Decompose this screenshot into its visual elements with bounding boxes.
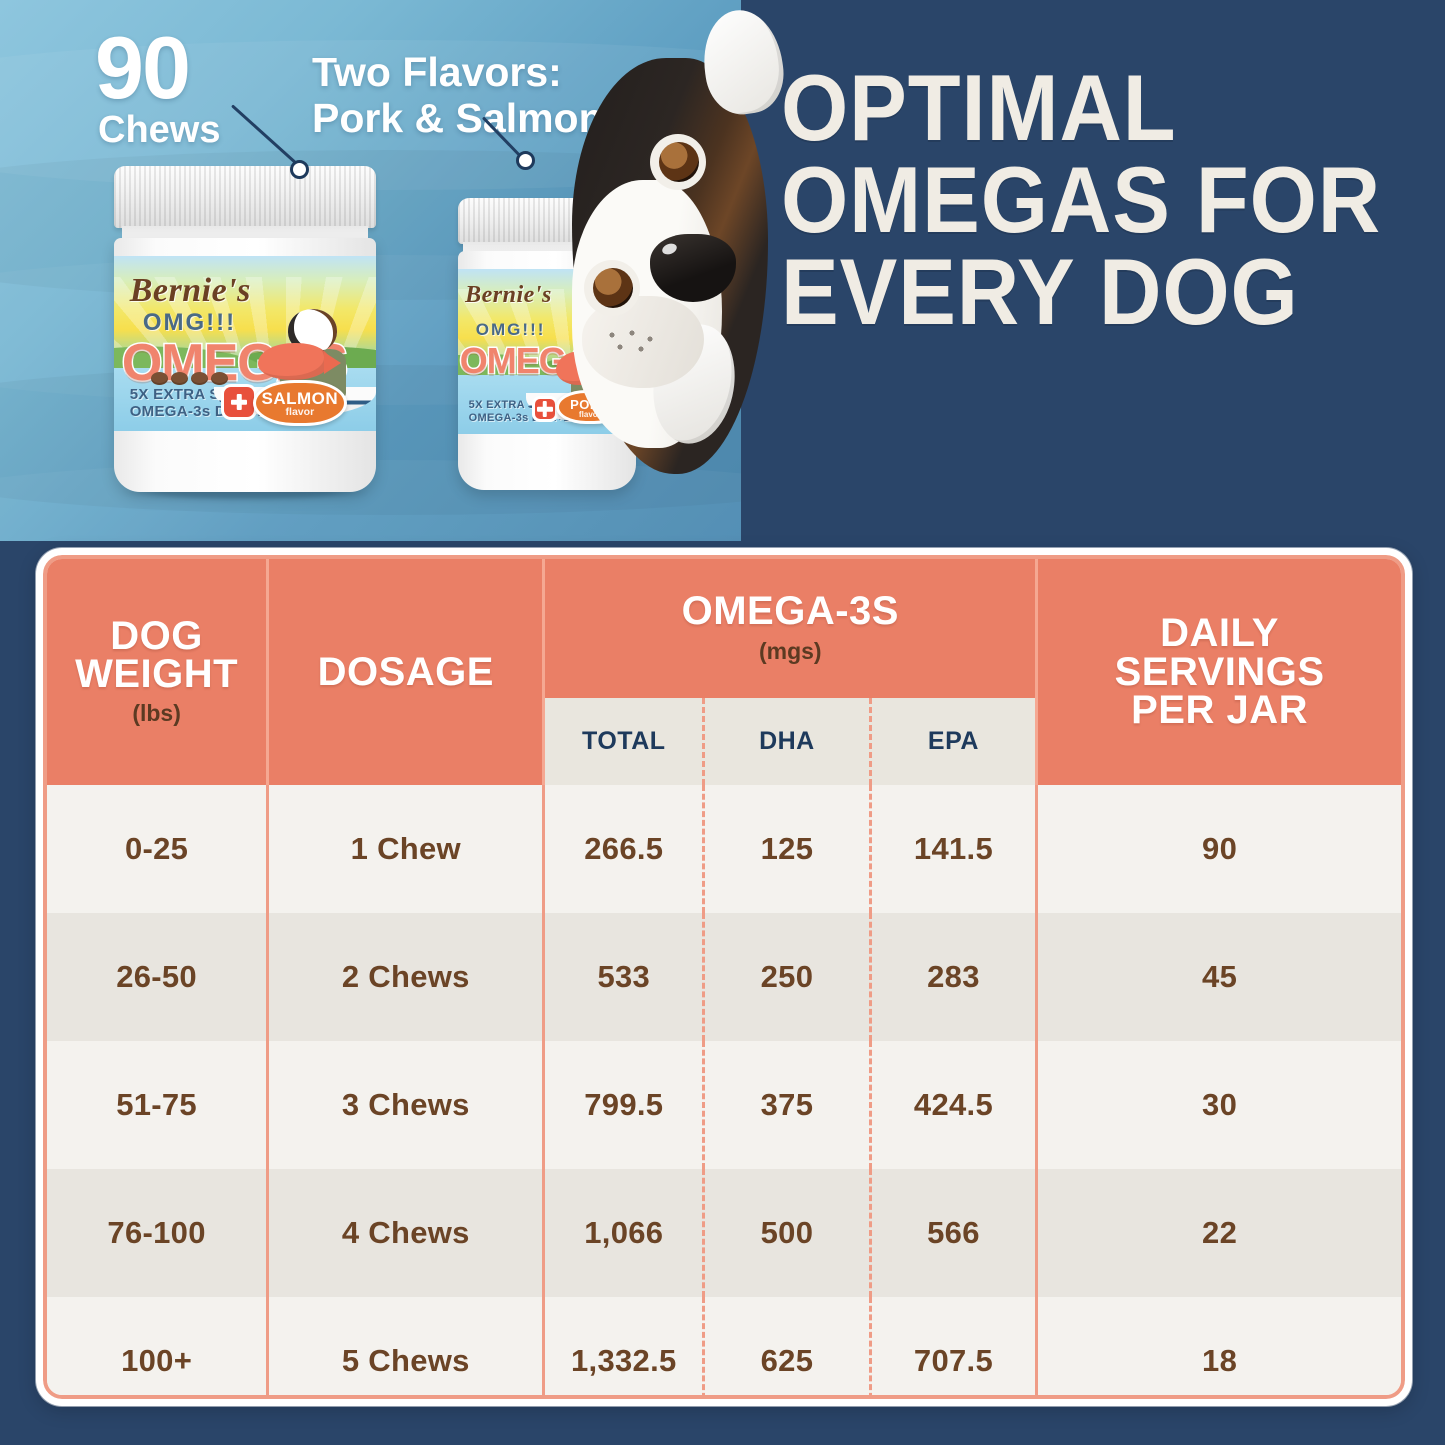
flavor-badge-name: SALMON (256, 390, 344, 407)
plus-cross-icon (535, 399, 555, 419)
cell-daily-servings: 90 (1037, 785, 1401, 913)
dosage-table-inner-border: DOG WEIGHT (lbs) DOSAGE OMEGA-3S (mgs) D… (43, 555, 1405, 1399)
product-jar-salmon: Bernie's OMG!!! OMEGAS 5X EXTRA STRENGTH… (114, 166, 376, 492)
cell-dosage: 4 Chews (268, 1169, 544, 1297)
header-dosage-label: DOSAGE (273, 653, 538, 691)
header-daily-servings-line1: DAILY (1042, 614, 1397, 652)
header-dog-weight-line2: WEIGHT (51, 655, 262, 693)
chews-count-callout: 90 Chews (95, 28, 220, 147)
cell-dosage: 2 Chews (268, 913, 544, 1041)
headline-line-1: OPTIMAL (781, 62, 1356, 154)
cell-omega3-total: 1,332.5 (544, 1297, 704, 1399)
cell-daily-servings: 18 (1037, 1297, 1401, 1399)
headline-line-3: EVERY DOG (781, 246, 1356, 338)
flavor-badge-salmon: SALMON flavor (253, 380, 347, 426)
leader-dot (290, 160, 309, 179)
sub-brand: OMG!!! (476, 320, 546, 340)
chews-count-label: Chews (98, 113, 220, 147)
cell-omega3-epa: 141.5 (870, 785, 1037, 913)
cell-omega3-dha: 625 (704, 1297, 871, 1399)
header-daily-servings: DAILY SERVINGS PER JAR (1037, 559, 1401, 785)
chews-count-number: 90 (95, 28, 220, 107)
cell-omega3-epa: 283 (870, 913, 1037, 1041)
hero-right-panel: OPTIMAL OMEGAS FOR EVERY DOG (741, 0, 1445, 541)
header-dog-weight-unit: (lbs) (51, 700, 262, 727)
header-daily-servings-line2: SERVINGS (1042, 653, 1397, 691)
headline-line-2: OMEGAS FOR (781, 154, 1356, 246)
dosage-table: DOG WEIGHT (lbs) DOSAGE OMEGA-3S (mgs) D… (47, 559, 1401, 1399)
fish-illustration (258, 343, 330, 379)
cell-dog-weight: 100+ (47, 1297, 268, 1399)
subheader-epa: EPA (870, 698, 1037, 785)
table-row: 100+5 Chews1,332.5625707.518 (47, 1297, 1401, 1399)
subheader-total: TOTAL (544, 698, 704, 785)
page-headline: OPTIMAL OMEGAS FOR EVERY DOG (781, 62, 1356, 338)
dog-eye-upper (650, 134, 706, 190)
cell-daily-servings: 30 (1037, 1041, 1401, 1169)
cell-omega3-epa: 566 (870, 1169, 1037, 1297)
subheader-dha: DHA (704, 698, 871, 785)
jar-body: Bernie's OMG!!! OMEGAS 5X EXTRA STRENGTH… (114, 238, 376, 492)
table-row: 51-753 Chews799.5375424.530 (47, 1041, 1401, 1169)
leader-stroke (231, 104, 298, 165)
cell-omega3-dha: 125 (704, 785, 871, 913)
dosage-table-body: 0-251 Chew266.5125141.59026-502 Chews533… (47, 785, 1401, 1399)
header-omega-3s-unit: (mgs) (549, 638, 1031, 665)
cell-dog-weight: 26-50 (47, 913, 268, 1041)
cell-dog-weight: 0-25 (47, 785, 268, 913)
header-dog-weight-line1: DOG (51, 617, 262, 655)
header-dosage: DOSAGE (268, 559, 544, 785)
dosage-table-container: DOG WEIGHT (lbs) DOSAGE OMEGA-3S (mgs) D… (36, 548, 1412, 1406)
table-header-row: DOG WEIGHT (lbs) DOSAGE OMEGA-3S (mgs) D… (47, 559, 1401, 698)
header-omega-3s-label: OMEGA-3S (549, 592, 1031, 630)
table-row: 0-251 Chew266.5125141.590 (47, 785, 1401, 913)
dosage-table-head: DOG WEIGHT (lbs) DOSAGE OMEGA-3S (mgs) D… (47, 559, 1401, 785)
peeking-dog-illustration (558, 2, 818, 522)
cell-omega3-dha: 250 (704, 913, 871, 1041)
cell-dosage: 3 Chews (268, 1041, 544, 1169)
chew-pieces-graphic (151, 372, 228, 385)
cell-omega3-epa: 424.5 (870, 1041, 1037, 1169)
brand-name: Bernie's (465, 282, 552, 309)
table-row: 76-1004 Chews1,06650056622 (47, 1169, 1401, 1297)
cell-omega3-epa: 707.5 (870, 1297, 1037, 1399)
cell-dosage: 1 Chew (268, 785, 544, 913)
cell-dog-weight: 51-75 (47, 1041, 268, 1169)
dog-eye-lower (584, 260, 640, 316)
header-dog-weight: DOG WEIGHT (lbs) (47, 559, 268, 785)
leader-line-flavors (483, 116, 563, 196)
cell-omega3-total: 1,066 (544, 1169, 704, 1297)
header-daily-servings-line3: PER JAR (1042, 691, 1397, 729)
table-row: 26-502 Chews53325028345 (47, 913, 1401, 1041)
cell-omega3-total: 533 (544, 913, 704, 1041)
flavor-badge-word: flavor (256, 407, 344, 418)
leader-line-chews (232, 104, 312, 184)
cell-omega3-total: 266.5 (544, 785, 704, 913)
header-omega-3s: OMEGA-3S (mgs) (544, 559, 1037, 698)
jar-label: Bernie's OMG!!! OMEGAS 5X EXTRA STRENGTH… (114, 256, 376, 431)
cell-daily-servings: 22 (1037, 1169, 1401, 1297)
cell-omega3-total: 799.5 (544, 1041, 704, 1169)
leader-dot (516, 151, 535, 170)
cell-dog-weight: 76-100 (47, 1169, 268, 1297)
plus-cross-icon (224, 387, 254, 417)
cell-omega3-dha: 500 (704, 1169, 871, 1297)
brand-name: Bernie's (130, 272, 251, 310)
cell-omega3-dha: 375 (704, 1041, 871, 1169)
cell-dosage: 5 Chews (268, 1297, 544, 1399)
cell-daily-servings: 45 (1037, 913, 1401, 1041)
